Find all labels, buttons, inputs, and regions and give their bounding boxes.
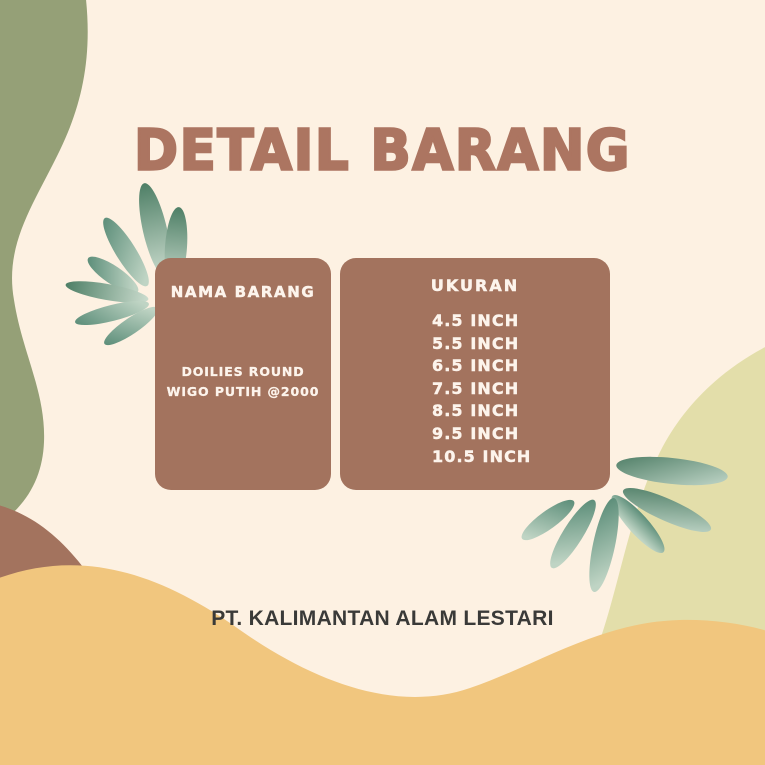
list-item: 9.5 INCH <box>432 423 531 446</box>
footer-company-name: PT. KALIMANTAN ALAM LESTARI <box>0 607 765 631</box>
list-item: 5.5 INCH <box>432 333 531 356</box>
card-nama-barang: NAMA BARANG DOILIES ROUND WIGO PUTIH @20… <box>155 258 331 490</box>
card-nama-barang-heading: NAMA BARANG <box>155 283 331 301</box>
size-list: 4.5 INCH 5.5 INCH 6.5 INCH 7.5 INCH 8.5 … <box>432 310 531 468</box>
list-item: 4.5 INCH <box>432 310 531 333</box>
card-ukuran: UKURAN 4.5 INCH 5.5 INCH 6.5 INCH 7.5 IN… <box>340 258 610 490</box>
list-item: 10.5 INCH <box>432 446 531 469</box>
item-name-line-2: WIGO PUTIH @2000 <box>155 382 331 402</box>
list-item: 8.5 INCH <box>432 400 531 423</box>
item-name-line-1: DOILIES ROUND <box>155 362 331 382</box>
list-item: 6.5 INCH <box>432 355 531 378</box>
page-title: DETAIL BARANG <box>0 118 765 183</box>
content-layer: DETAIL BARANG NAMA BARANG DOILIES ROUND … <box>0 0 765 765</box>
list-item: 7.5 INCH <box>432 378 531 401</box>
poster-canvas: DETAIL BARANG NAMA BARANG DOILIES ROUND … <box>0 0 765 765</box>
card-nama-barang-body: DOILIES ROUND WIGO PUTIH @2000 <box>155 362 331 402</box>
card-ukuran-heading: UKURAN <box>340 276 610 295</box>
